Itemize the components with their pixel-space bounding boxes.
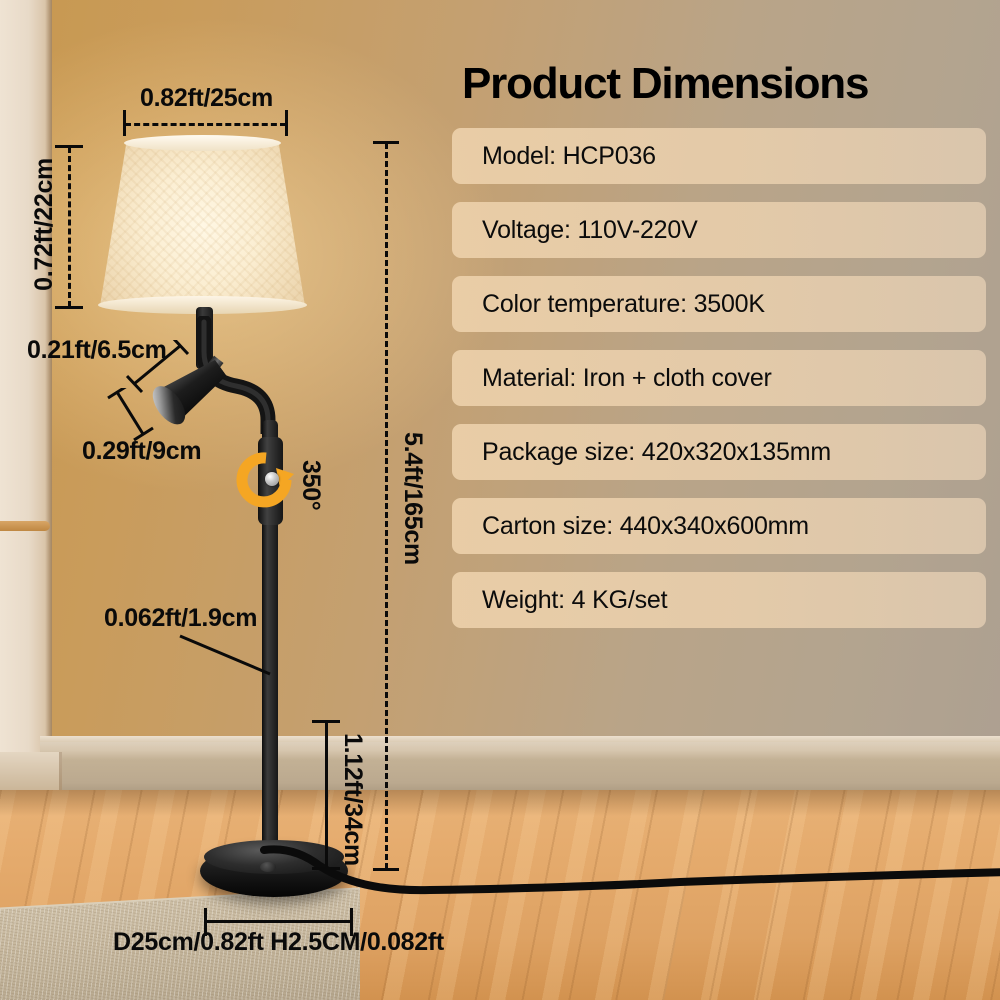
specifications-list: Model: HCP036Voltage: 110V-220VColor tem… — [452, 128, 986, 628]
spot-diameter-label: 0.29ft/9cm — [82, 437, 201, 466]
spec-text-voltage: Voltage: 110V-220V — [482, 216, 698, 245]
spec-row-material: Material: Iron + cloth cover — [452, 350, 986, 406]
spec-row-voltage: Voltage: 110V-220V — [452, 202, 986, 258]
base-size-dimension-line — [206, 920, 351, 923]
base-size-label: D25cm/0.82ft H2.5CM/0.082ft — [113, 928, 444, 957]
corner-rail-trim — [0, 521, 50, 531]
pole-diameter-leader-line — [178, 632, 278, 682]
spec-row-weight: Weight: 4 KG/set — [452, 572, 986, 628]
total-height-dimension-line — [385, 143, 388, 869]
floor-wall-shadow — [0, 790, 1000, 816]
spec-text-color-temperature: Color temperature: 3500K — [482, 290, 765, 319]
shade-height-dimension-line — [68, 147, 71, 307]
wall-corner — [0, 0, 52, 760]
spec-text-material: Material: Iron + cloth cover — [482, 364, 772, 393]
page-title: Product Dimensions — [452, 62, 986, 106]
product-dimensions-infographic: 0.82ft/25cm 0.72ft/22cm 0.21ft/6.5cm 0.2… — [0, 0, 1000, 1000]
shade-width-label: 0.82ft/25cm — [140, 84, 273, 113]
spec-row-model: Model: HCP036 — [452, 128, 986, 184]
shade-width-dimension-line — [125, 123, 286, 126]
spec-text-weight: Weight: 4 KG/set — [482, 586, 667, 615]
spot-length-label: 0.21ft/6.5cm — [27, 336, 167, 365]
shade-height-label: 0.72ft/22cm — [30, 158, 59, 291]
pole-diameter-label: 0.062ft/1.9cm — [104, 604, 257, 633]
lamp-shade-top-rim — [124, 135, 281, 151]
spec-row-package-size: Package size: 420x320x135mm — [452, 424, 986, 480]
lamp-shade — [100, 141, 305, 306]
spec-row-color-temperature: Color temperature: 3500K — [452, 276, 986, 332]
rotation-label: 350° — [296, 460, 325, 511]
base-joint-dimension-line — [325, 722, 328, 868]
spec-text-package-size: Package size: 420x320x135mm — [482, 438, 831, 467]
base-to-joint-label: 1.12ft/34cm — [338, 733, 367, 866]
rotation-joint-screw — [265, 472, 279, 486]
total-height-label: 5.4ft/165cm — [398, 432, 427, 565]
baseboard — [40, 742, 1000, 794]
specifications-panel: Product Dimensions Model: HCP036Voltage:… — [452, 62, 986, 646]
spec-row-carton-size: Carton size: 440x340x600mm — [452, 498, 986, 554]
spec-text-carton-size: Carton size: 440x340x600mm — [482, 512, 809, 541]
spec-text-model: Model: HCP036 — [482, 142, 656, 171]
